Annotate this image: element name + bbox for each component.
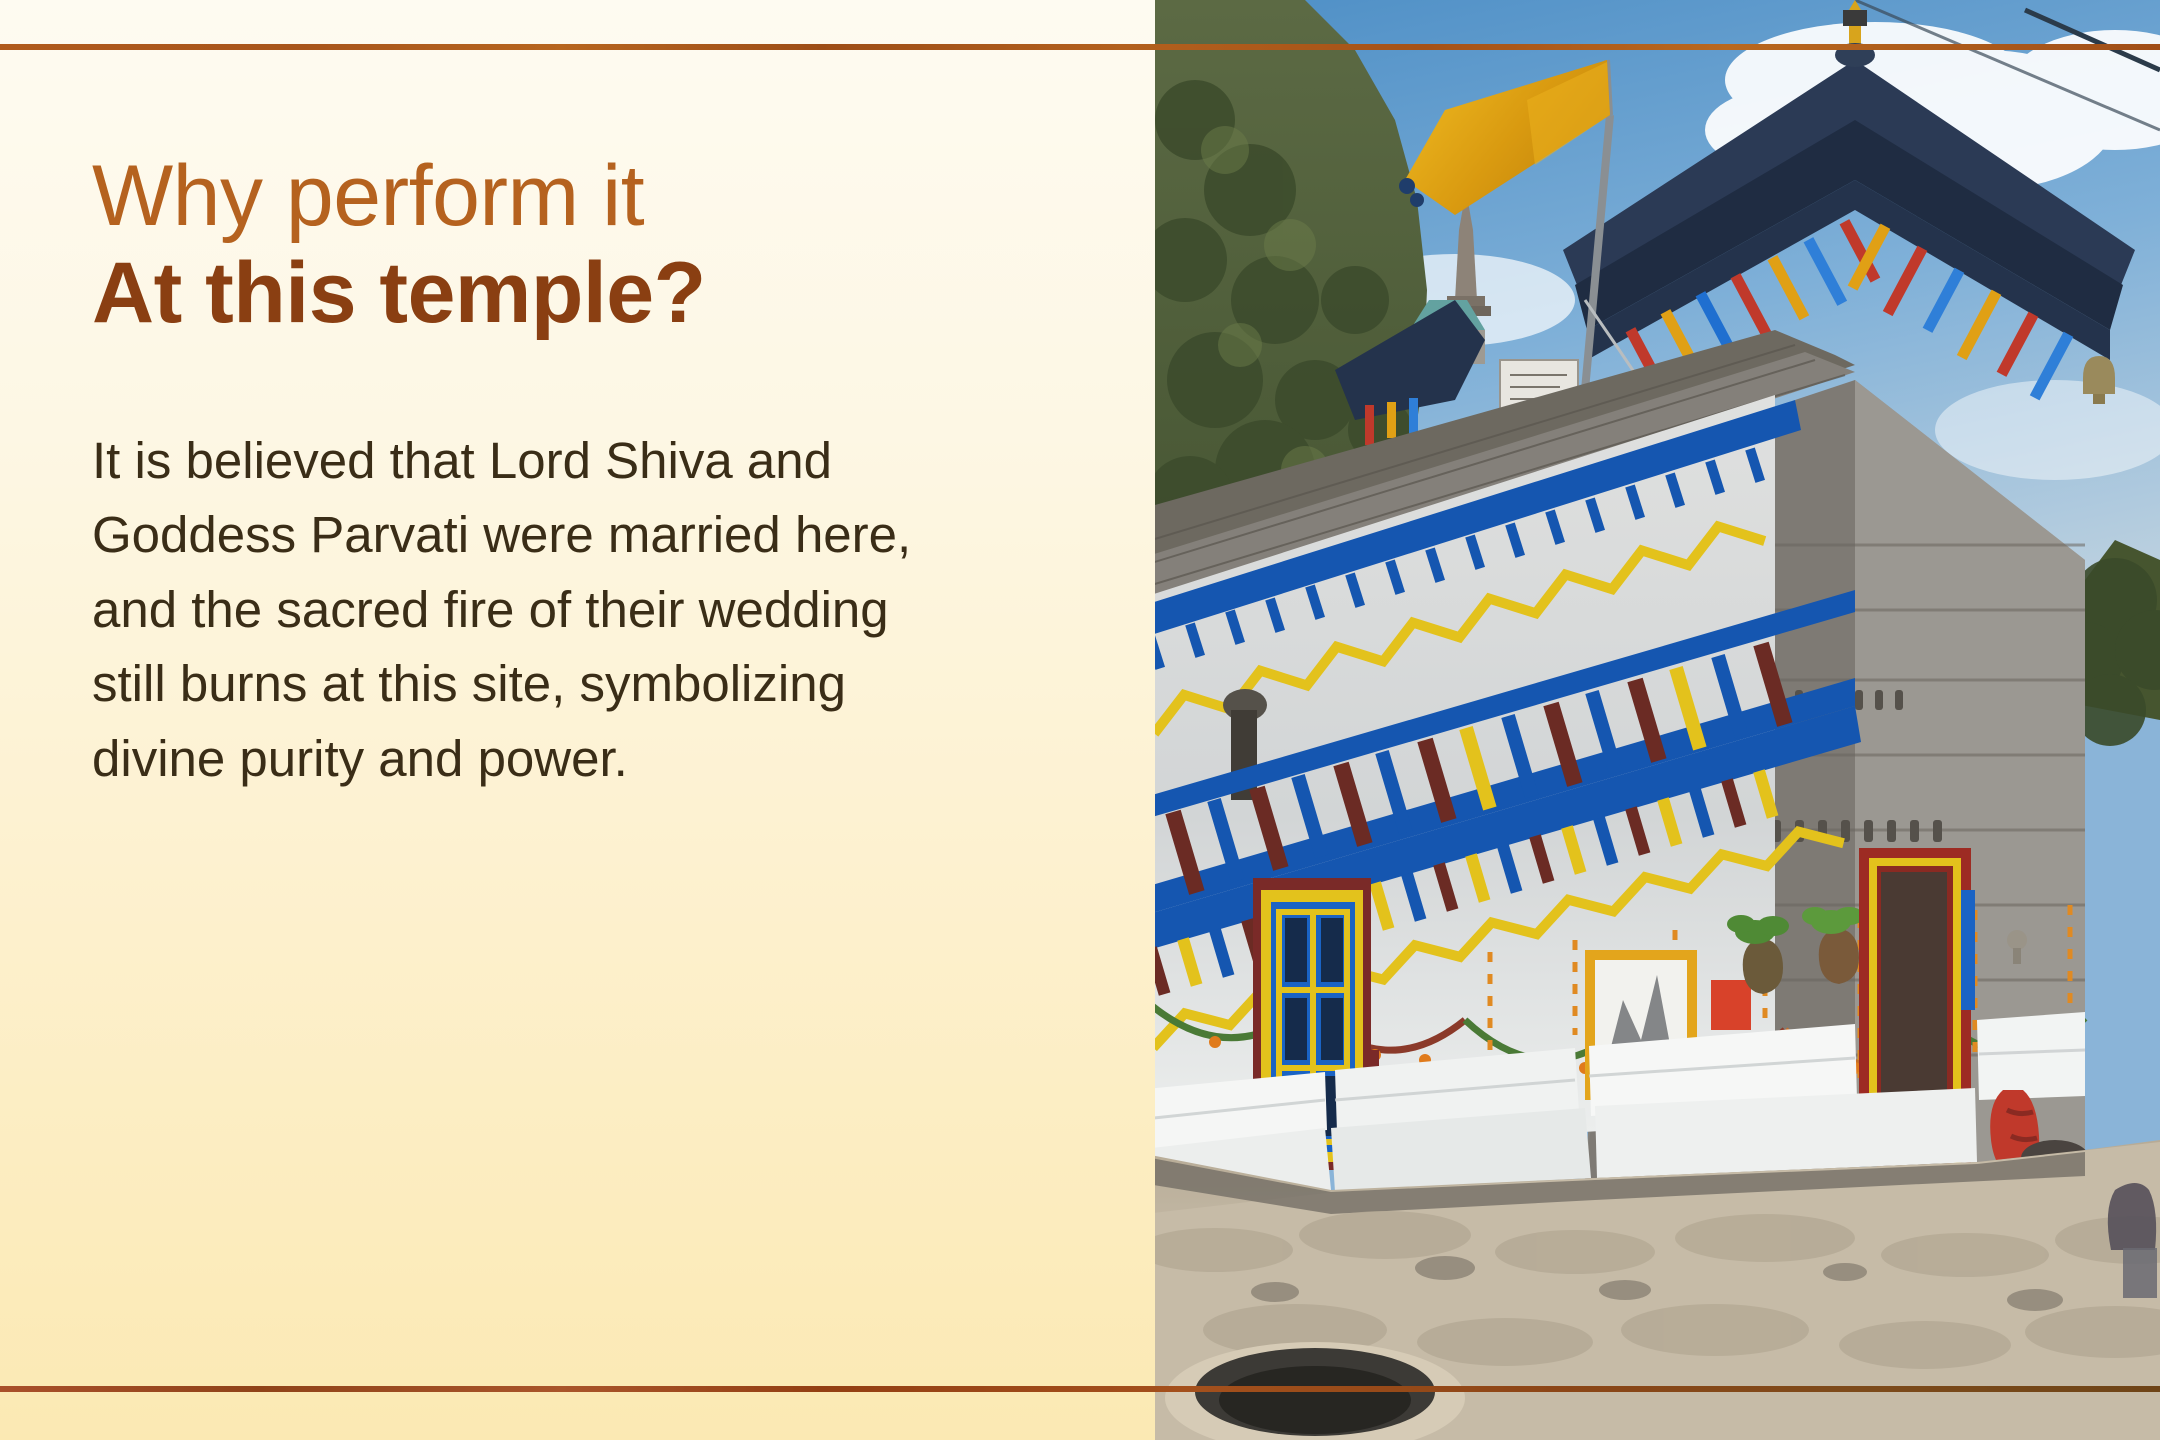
slide-root: Why perform it At this temple? It is bel… — [0, 0, 2160, 1440]
left-text-panel: Why perform it At this temple? It is bel… — [0, 0, 1155, 1440]
temple-photo — [1155, 0, 2160, 1440]
body-paragraph: It is believed that Lord Shiva and Godde… — [92, 424, 962, 796]
heading-line-2: At this temple? — [92, 247, 1092, 340]
temple-photo-illustration — [1155, 0, 2160, 1440]
page-title: Why perform it At this temple? — [92, 150, 1092, 340]
heading-line-1: Why perform it — [92, 150, 1092, 243]
text-block: Why perform it At this temple? It is bel… — [92, 150, 1092, 796]
top-divider-rule — [0, 44, 2160, 50]
bottom-divider-rule — [0, 1386, 2160, 1392]
